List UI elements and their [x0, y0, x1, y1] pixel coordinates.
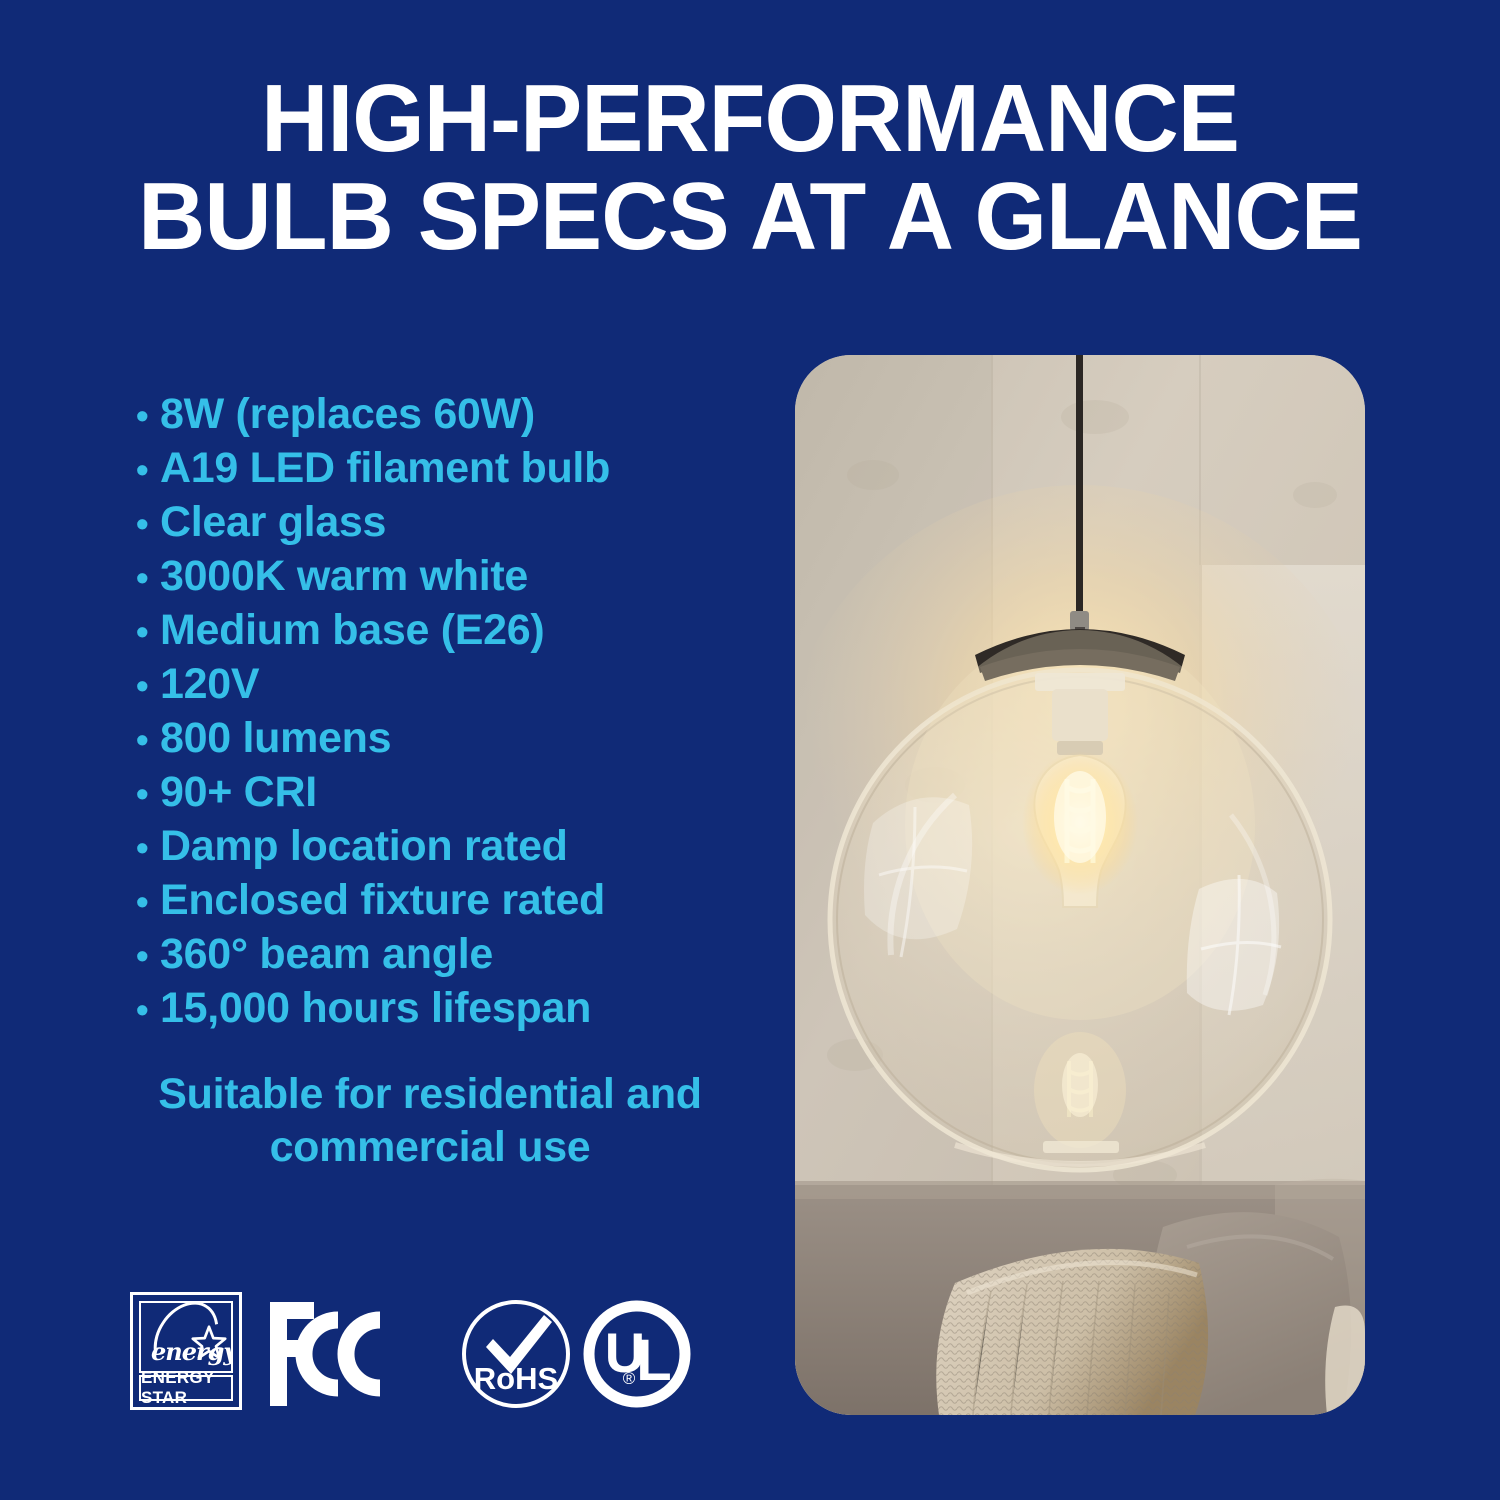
bullet-icon: •	[136, 821, 160, 874]
spec-list: • 8W (replaces 60W) • A19 LED filament b…	[136, 388, 756, 1036]
fcc-logo-glyph	[268, 1298, 404, 1410]
spec-item-label: 120V	[160, 658, 259, 711]
spec-item: • 120V	[136, 658, 756, 712]
energy-star-label: ENERGY STAR	[139, 1375, 233, 1401]
spec-item: • Clear glass	[136, 496, 756, 550]
star-icon	[191, 1325, 227, 1361]
spec-item: • Damp location rated	[136, 820, 756, 874]
energy-star-icon: energy ENERGY STAR	[130, 1292, 242, 1410]
suitability-note-line-2: commercial use	[270, 1123, 591, 1171]
bullet-icon: •	[136, 551, 160, 604]
bullet-icon: •	[136, 497, 160, 550]
fcc-icon	[268, 1298, 404, 1410]
spec-item-label: 8W (replaces 60W)	[160, 388, 535, 441]
bullet-icon: •	[136, 389, 160, 442]
bullet-icon: •	[136, 767, 160, 820]
spec-item-label: 15,000 hours lifespan	[160, 982, 591, 1035]
spec-item: • 15,000 hours lifespan	[136, 982, 756, 1036]
spec-item-label: Medium base (E26)	[160, 604, 544, 657]
rohs-icon: RoHS	[460, 1295, 572, 1413]
ul-icon: U L ®	[580, 1296, 694, 1412]
spec-item: • 3000K warm white	[136, 550, 756, 604]
spec-item: • 360° beam angle	[136, 928, 756, 982]
spec-item-label: 3000K warm white	[160, 550, 528, 603]
bullet-icon: •	[136, 929, 160, 982]
ul-logo-glyph: U L ®	[580, 1296, 694, 1412]
spec-item-label: Enclosed fixture rated	[160, 874, 605, 927]
page-title-line-1: HIGH-PERFORMANCE	[23, 70, 1478, 168]
spec-item-label: A19 LED filament bulb	[160, 442, 610, 495]
product-photo	[795, 355, 1365, 1415]
energy-star-emblem: energy	[139, 1301, 233, 1373]
spec-item: • Enclosed fixture rated	[136, 874, 756, 928]
svg-text:RoHS: RoHS	[474, 1361, 558, 1396]
spec-item: • 800 lumens	[136, 712, 756, 766]
spec-item-label: 800 lumens	[160, 712, 391, 765]
page-title: HIGH-PERFORMANCE BULB SPECS AT A GLANCE	[23, 70, 1478, 266]
spec-item: • 90+ CRI	[136, 766, 756, 820]
infographic-canvas: HIGH-PERFORMANCE BULB SPECS AT A GLANCE …	[0, 0, 1500, 1500]
spec-item-label: 360° beam angle	[160, 928, 493, 981]
spec-item-label: Clear glass	[160, 496, 386, 549]
bullet-icon: •	[136, 983, 160, 1036]
suitability-note: Suitable for residential and commercial …	[120, 1068, 740, 1174]
bullet-icon: •	[136, 443, 160, 496]
pendant-lamp-scene	[795, 355, 1365, 1415]
bullet-icon: •	[136, 875, 160, 928]
bullet-icon: •	[136, 659, 160, 712]
spec-item-label: 90+ CRI	[160, 766, 317, 819]
bullet-icon: •	[136, 713, 160, 766]
bullet-icon: •	[136, 605, 160, 658]
page-title-line-2: BULB SPECS AT A GLANCE	[23, 168, 1478, 266]
spec-item: • A19 LED filament bulb	[136, 442, 756, 496]
spec-item: • Medium base (E26)	[136, 604, 756, 658]
spec-item-label: Damp location rated	[160, 820, 568, 873]
spec-item: • 8W (replaces 60W)	[136, 388, 756, 442]
svg-text:L: L	[636, 1328, 671, 1393]
registered-mark: ®	[623, 1369, 636, 1388]
suitability-note-line-1: Suitable for residential and	[158, 1070, 702, 1118]
certification-badges: energy ENERGY STAR	[128, 1292, 728, 1420]
rohs-logo-glyph: RoHS	[460, 1295, 572, 1413]
